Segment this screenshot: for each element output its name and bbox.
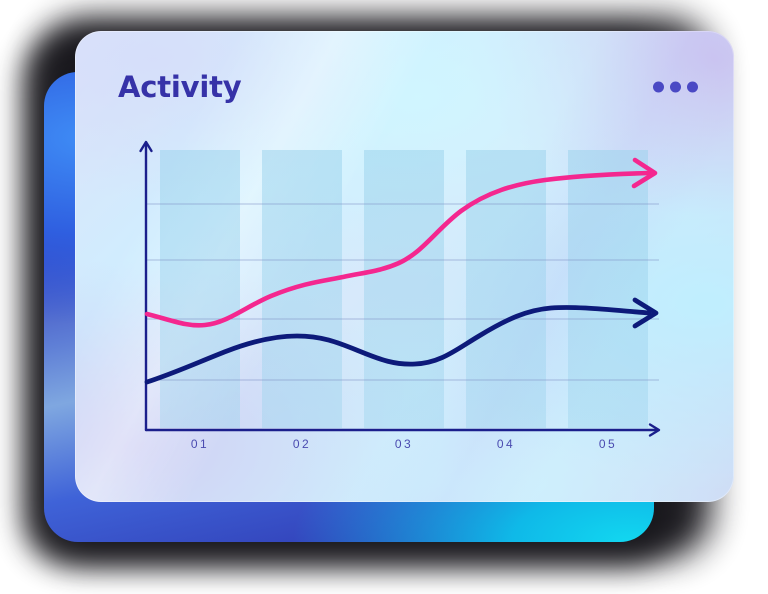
x-tick-label-4: 04 [497, 437, 515, 451]
screen-root: Activity [0, 0, 768, 594]
activity-chart-svg: 01 02 03 04 05 [75, 31, 734, 502]
column-band-1 [160, 150, 240, 428]
column-band-5 [568, 150, 648, 428]
column-band-4 [466, 150, 546, 428]
x-tick-label-1: 01 [191, 437, 209, 451]
activity-chart: 01 02 03 04 05 [75, 31, 734, 502]
x-tick-label-2: 02 [293, 437, 311, 451]
activity-card: Activity [75, 31, 734, 502]
x-tick-label-5: 05 [599, 437, 617, 451]
chart-column-bands [160, 150, 648, 428]
x-tick-label-3: 03 [395, 437, 413, 451]
column-band-2 [262, 150, 342, 428]
x-axis-labels: 01 02 03 04 05 [191, 437, 617, 451]
column-band-3 [364, 150, 444, 428]
